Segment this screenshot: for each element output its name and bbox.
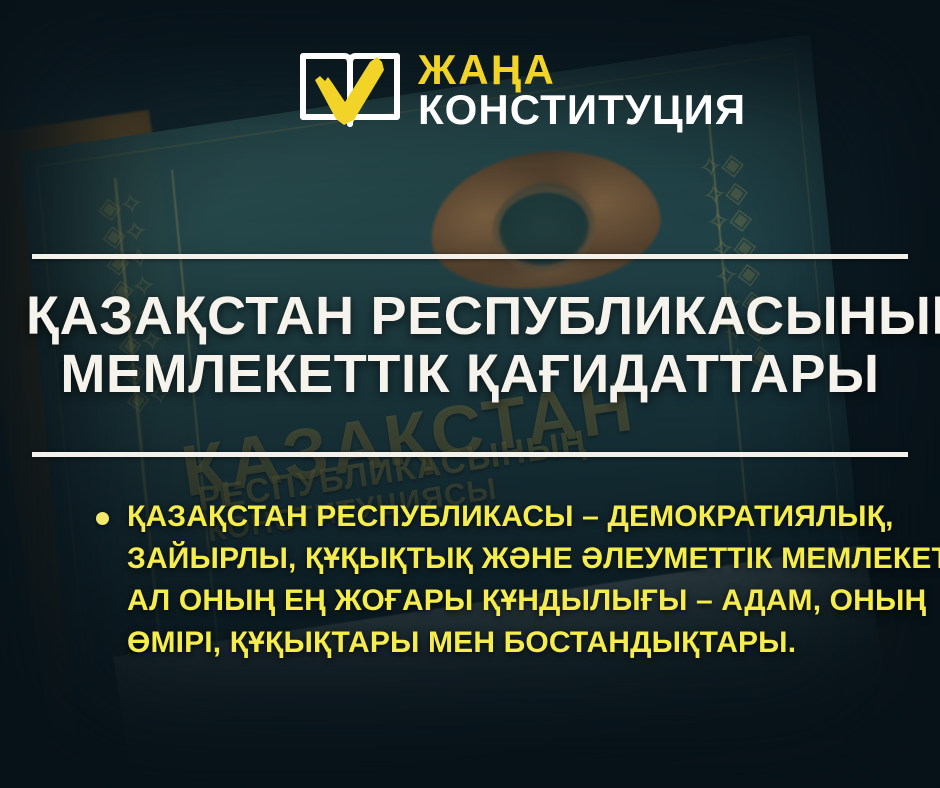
page-title: ҚАЗАҚСТАН РЕСПУБЛИКАСЫНЫҢ МЕМЛЕКЕТТІК ҚА… xyxy=(0,288,940,404)
divider-bottom xyxy=(32,452,908,457)
principle-line-4: ӨМІРІ, ҚҰҚЫҚТАРЫ МЕН БОСТАНДЫҚТАРЫ. xyxy=(127,622,940,664)
brand-logo-line-1: ЖАҢА xyxy=(418,50,746,90)
brand-logo-line-2: КОНСТИТУЦИЯ xyxy=(418,90,746,130)
principle-line-1: ҚАЗАҚСТАН РЕСПУБЛИКАСЫ – ДЕМОКРАТИЯЛЫҚ, xyxy=(127,496,940,538)
principle-list-item: ҚАЗАҚСТАН РЕСПУБЛИКАСЫ – ДЕМОКРАТИЯЛЫҚ, … xyxy=(127,496,940,664)
principle-line-2: ЗАЙЫРЛЫ, ҚҰҚЫҚТЫҚ ЖӘНЕ ӘЛЕУМЕТТІК МЕМЛЕК… xyxy=(127,538,940,580)
poster-content: ЖАҢА КОНСТИТУЦИЯ ҚАЗАҚСТАН РЕСПУБЛИКАСЫН… xyxy=(0,0,940,788)
divider-top xyxy=(32,254,908,259)
open-book-with-checkmark-icon xyxy=(298,46,402,132)
page-title-line-2: МЕМЛЕКЕТТІК ҚАҒИДАТТАРЫ xyxy=(26,346,914,404)
poster-canvas: ◈✧ ◈✧ ◈✧ ◈✧ ◈✧ ◈✧ ◈✧ ◈✧ ✧◈ ✧◈ ✧◈ ✧◈ ✧◈ ✧… xyxy=(0,0,940,788)
brand-logo: ЖАҢА КОНСТИТУЦИЯ xyxy=(298,46,746,132)
bullet-point-icon xyxy=(96,512,109,525)
principle-list: ҚАЗАҚСТАН РЕСПУБЛИКАСЫ – ДЕМОКРАТИЯЛЫҚ, … xyxy=(96,496,886,664)
brand-logo-text: ЖАҢА КОНСТИТУЦИЯ xyxy=(418,48,746,131)
principle-line-3: АЛ ОНЫҢ ЕҢ ЖОҒАРЫ ҚҰНДЫЛЫҒЫ – АДАМ, ОНЫҢ xyxy=(127,580,940,622)
page-title-line-1: ҚАЗАҚСТАН РЕСПУБЛИКАСЫНЫҢ xyxy=(26,288,914,346)
